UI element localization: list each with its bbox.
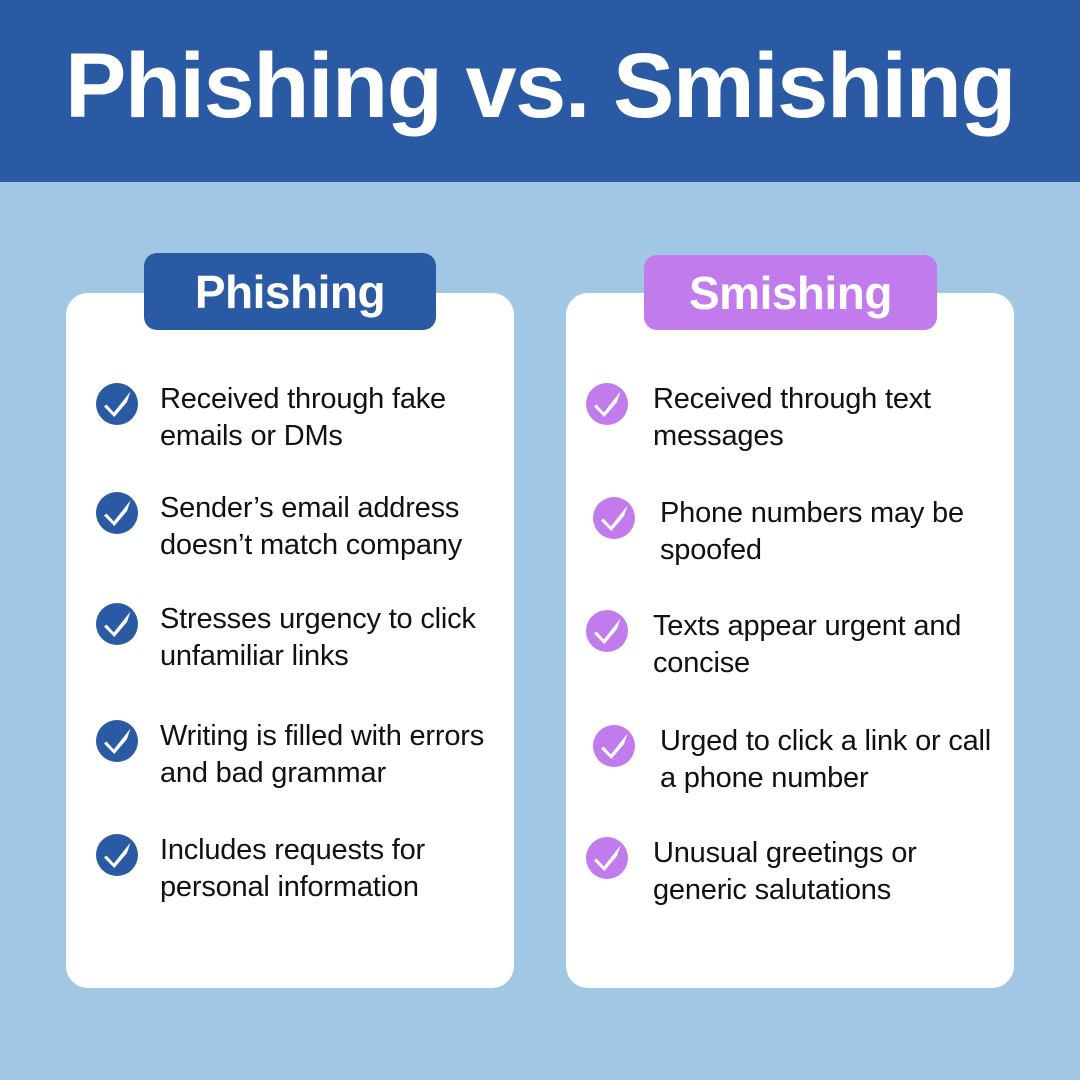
list-item: Unusual greetings or generic salutations	[585, 834, 1005, 909]
list-item: Writing is filled with errors and bad gr…	[95, 717, 515, 792]
check-circle-icon	[95, 602, 139, 646]
list-item: Urged to click a link or call a phone nu…	[592, 722, 1012, 797]
check-circle-icon	[95, 719, 139, 763]
check-circle-icon	[592, 724, 636, 768]
list-item: Received through fake emails or DMs	[95, 380, 515, 455]
check-circle-icon	[95, 382, 139, 426]
comparison-columns: Phishing Received through fake emails or…	[0, 182, 1080, 1080]
list-smishing: Received through text messages Phone num…	[566, 293, 1014, 988]
badge-phishing: Phishing	[144, 253, 436, 330]
list-item: Received through text messages	[585, 380, 1005, 455]
check-circle-icon	[95, 833, 139, 877]
list-phishing: Received through fake emails or DMs Send…	[66, 293, 514, 988]
list-item-label: Received through text messages	[653, 380, 1005, 455]
list-item-label: Writing is filled with errors and bad gr…	[160, 717, 515, 792]
list-item: Stresses urgency to click unfamiliar lin…	[95, 600, 515, 675]
list-item-label: Includes requests for personal informati…	[160, 831, 515, 906]
list-item-label: Unusual greetings or generic salutations	[653, 834, 1005, 909]
check-circle-icon	[592, 496, 636, 540]
list-item-label: Texts appear urgent and concise	[653, 607, 1005, 682]
column-phishing: Phishing Received through fake emails or…	[66, 182, 514, 1080]
list-item: Includes requests for personal informati…	[95, 831, 515, 906]
page-title: Phishing vs. Smishing	[0, 30, 1080, 142]
list-item-label: Stresses urgency to click unfamiliar lin…	[160, 600, 515, 675]
list-item: Sender’s email address doesn’t match com…	[95, 489, 515, 564]
check-circle-icon	[585, 836, 629, 880]
list-item-label: Phone numbers may be spoofed	[660, 494, 1012, 569]
list-item: Texts appear urgent and concise	[585, 607, 1005, 682]
badge-smishing: Smishing	[644, 255, 937, 330]
list-item-label: Sender’s email address doesn’t match com…	[160, 489, 515, 564]
list-item: Phone numbers may be spoofed	[592, 494, 1012, 569]
header-banner: Phishing vs. Smishing	[0, 0, 1080, 182]
check-circle-icon	[585, 609, 629, 653]
list-item-label: Urged to click a link or call a phone nu…	[660, 722, 1012, 797]
check-circle-icon	[585, 382, 629, 426]
column-smishing: Smishing Received through text messages	[566, 182, 1014, 1080]
check-circle-icon	[95, 491, 139, 535]
list-item-label: Received through fake emails or DMs	[160, 380, 515, 455]
